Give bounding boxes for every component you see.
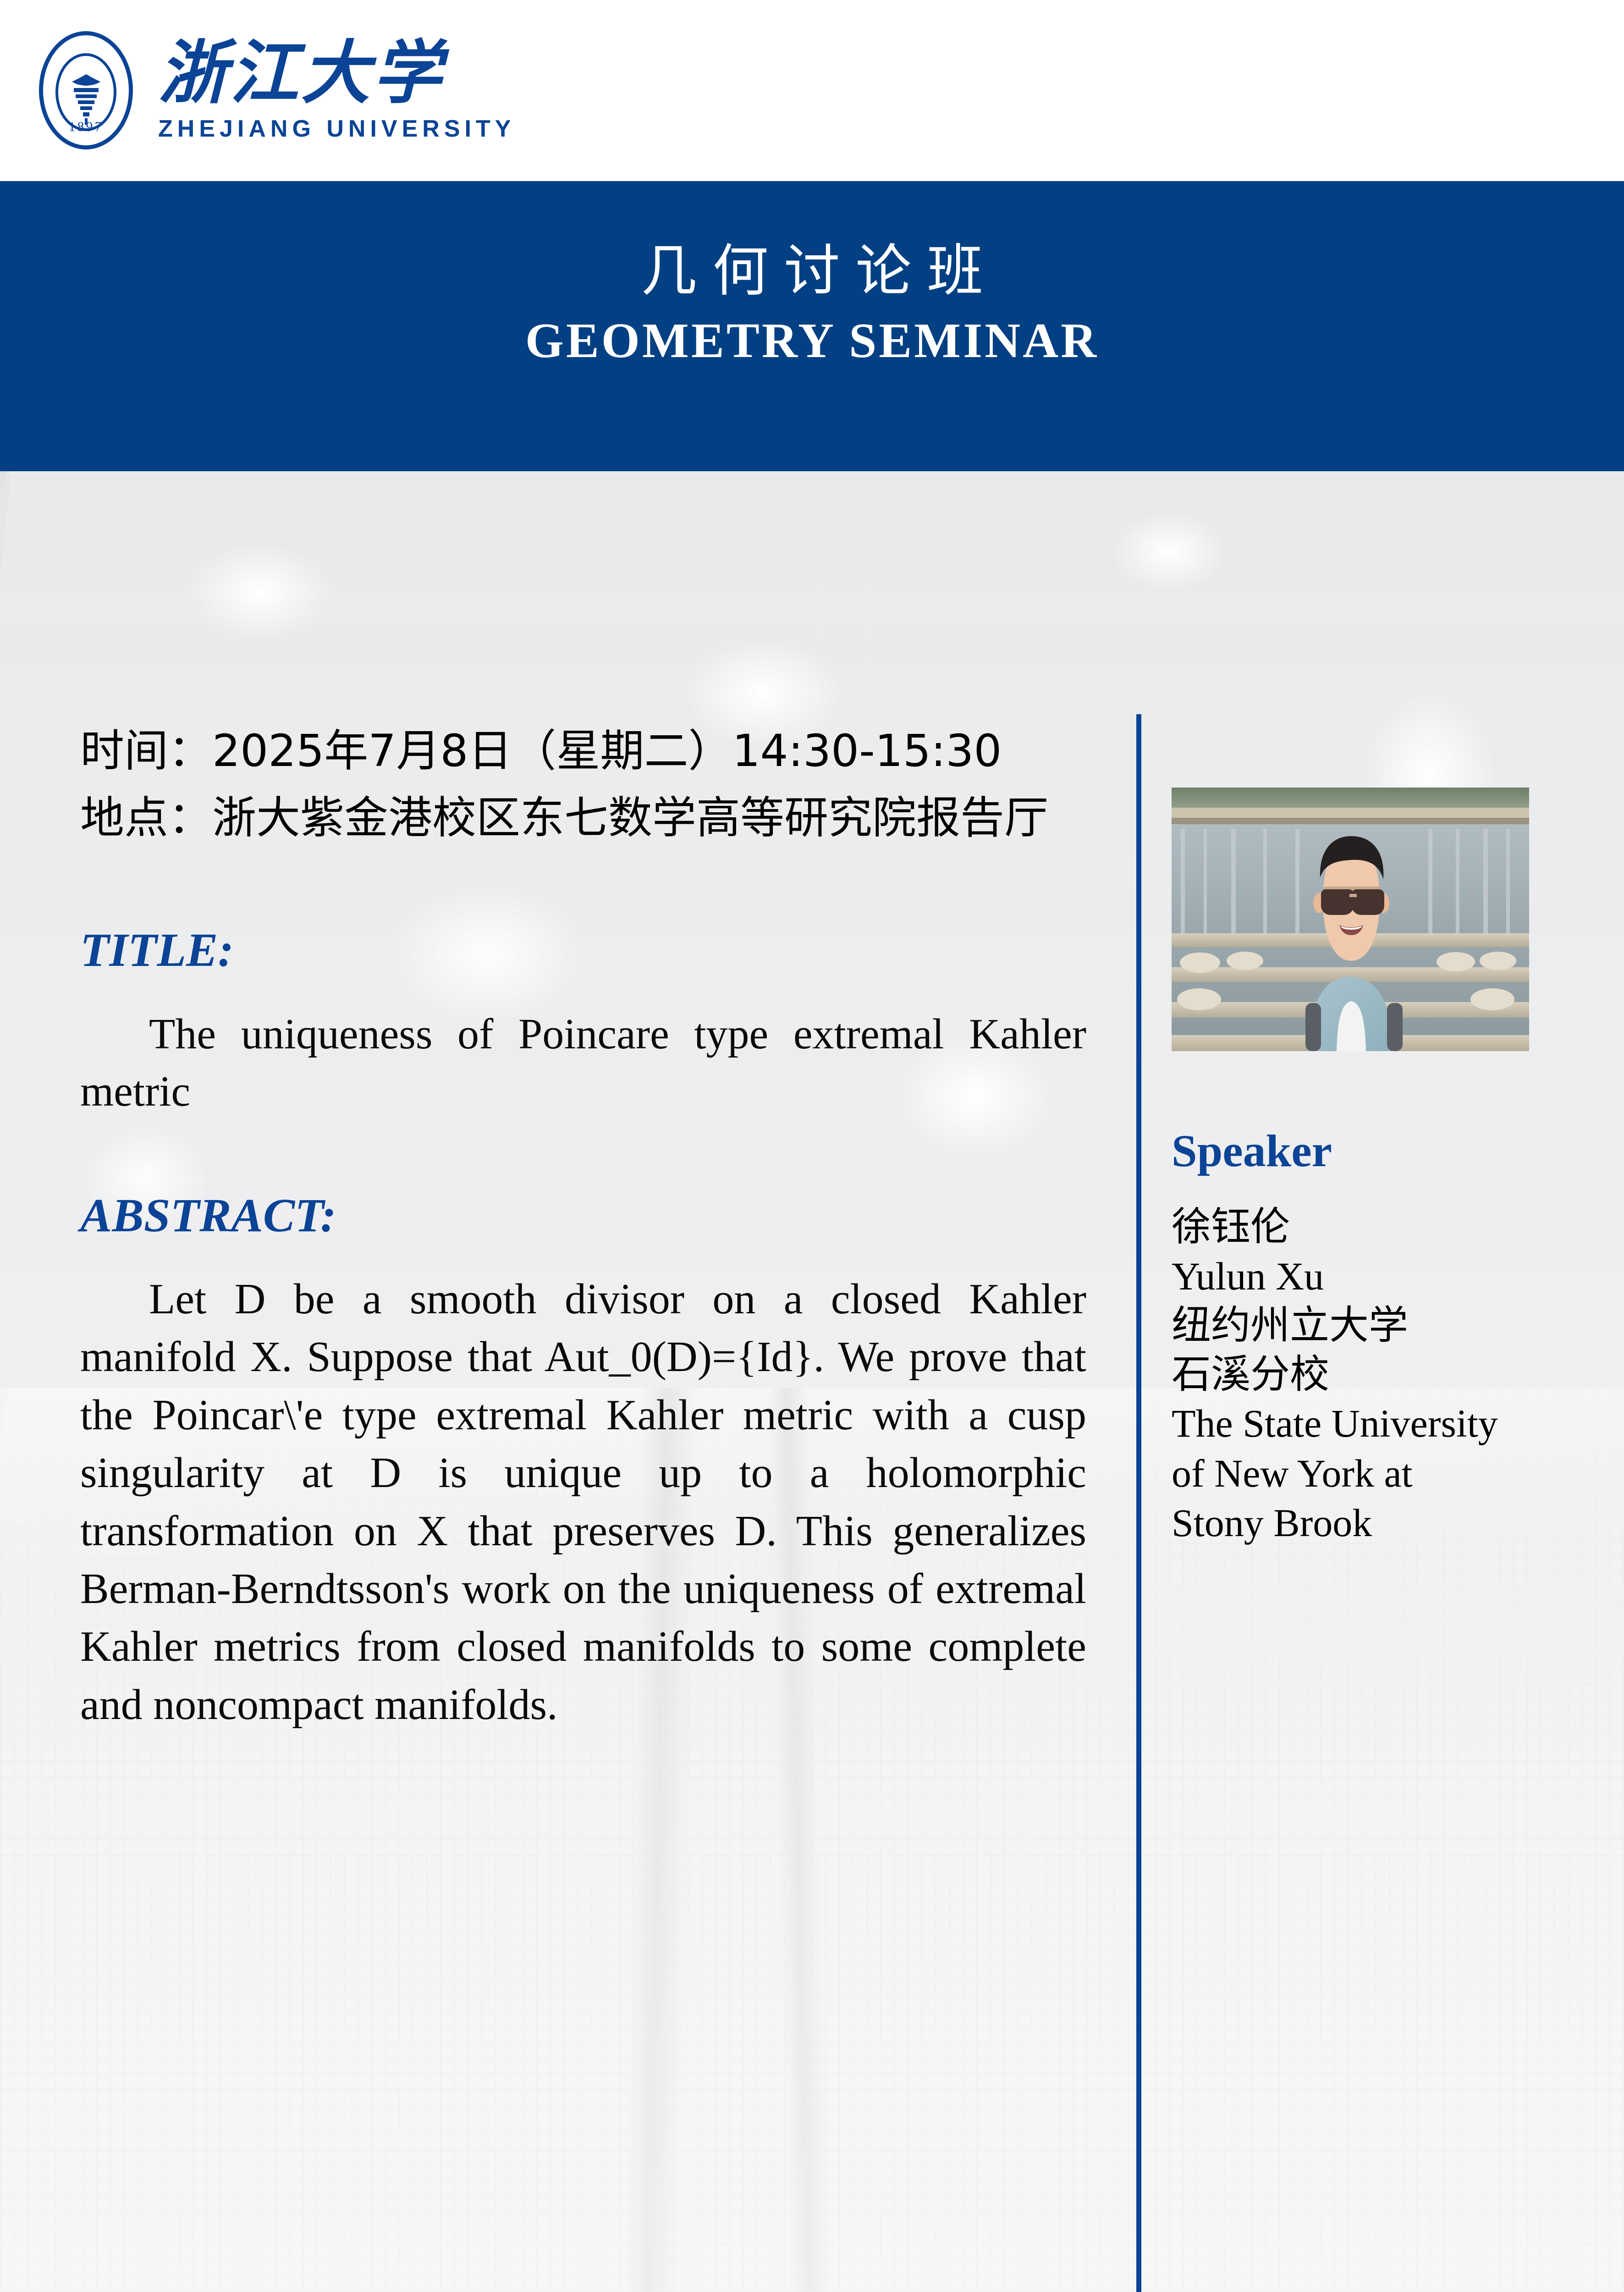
speaker-affiliation-cn-2: 石溪分校	[1172, 1350, 1575, 1399]
speaker-affiliation-en-2: of New York at	[1172, 1449, 1575, 1498]
event-location: 地点：浙大紫金港校区东七数学高等研究院报告厅	[80, 785, 1089, 852]
speaker-affiliation-en-3: Stony Brook	[1172, 1498, 1575, 1548]
seminar-title-en: GEOMETRY SEMINAR	[0, 313, 1624, 369]
speaker-name-en: Yulun Xu	[1172, 1251, 1575, 1301]
abstract-heading: ABSTRACT:	[80, 1188, 1089, 1243]
speaker-details: 徐钰伦 Yulun Xu 纽约州立大学 石溪分校 The State Unive…	[1172, 1202, 1575, 1548]
zhejiang-university-seal-icon: 1897	[39, 31, 138, 150]
column-divider	[1136, 714, 1141, 2292]
speaker-affiliation-cn-1: 纽约州立大学	[1172, 1301, 1575, 1350]
speaker-photo	[1172, 788, 1529, 1051]
title-heading: TITLE:	[80, 923, 1089, 977]
talk-title: The uniqueness of Poincare type extremal…	[80, 1006, 1086, 1120]
university-logo-bar: 1897 浙江大学 ZHEJIANG UNIVERSITY	[0, 0, 1624, 181]
seminar-poster: 1897 浙江大学 ZHEJIANG UNIVERSITY 几何讨论班 GEOM…	[0, 0, 1624, 2292]
main-content-column: 时间：2025年7月8日（星期二）14:30-15:30 地点：浙大紫金港校区东…	[80, 718, 1089, 1734]
speaker-name-cn: 徐钰伦	[1172, 1202, 1575, 1251]
seminar-title-cn: 几何讨论班	[0, 236, 1624, 306]
event-time: 时间：2025年7月8日（星期二）14:30-15:30	[80, 718, 1089, 785]
seminar-header-banner: 几何讨论班 GEOMETRY SEMINAR	[0, 181, 1624, 471]
talk-abstract: Let D be a smooth divisor on a closed Ka…	[80, 1270, 1086, 1734]
seal-founding-year: 1897	[39, 119, 133, 135]
university-name-cn: 浙江大学	[158, 39, 515, 108]
speaker-affiliation-en-1: The State University	[1172, 1399, 1575, 1448]
speaker-column: Speaker 徐钰伦 Yulun Xu 纽约州立大学 石溪分校 The Sta…	[1172, 788, 1575, 1548]
university-name-en: ZHEJIANG UNIVERSITY	[158, 115, 515, 143]
speaker-label: Speaker	[1172, 1128, 1575, 1174]
seal-phoenix-icon	[67, 72, 105, 127]
university-wordmark: 浙江大学 ZHEJIANG UNIVERSITY	[158, 39, 515, 143]
speaker-portrait-image	[1172, 788, 1529, 1051]
